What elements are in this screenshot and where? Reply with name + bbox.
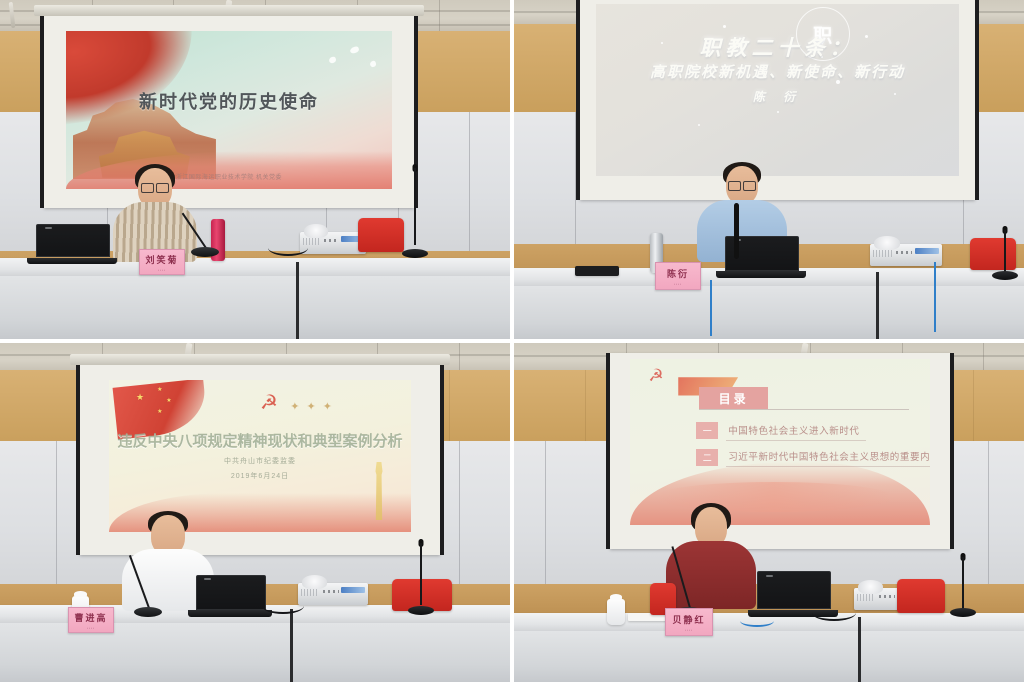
desk-divider [876,272,879,339]
power-cable [812,605,856,621]
toc-item-text: 中国特色社会主义进入新时代 [726,421,865,441]
placard-subtext: •••• [674,282,682,286]
dove-icon [369,60,377,68]
projection-screen: ★ ★ ★ ★ ☭ ✦ ✦ ✦ 违反中央八项规定精神现状和典型案例分析 中共舟山… [80,365,440,555]
power-cable [262,598,304,614]
photo-panel-bottom-left: ★ ★ ★ ★ ☭ ✦ ✦ ✦ 违反中央八项规定精神现状和典型案例分析 中共舟山… [0,343,510,682]
desk-divider [290,609,293,682]
photo-panel-top-left: 新时代党的历史使命 浙江国际海运职业技术学院 机关党委 [0,0,510,339]
slide-speaker-name: 陈 衍 [596,88,959,105]
dove-icon: ✦ ✦ ✦ [290,400,334,413]
photo-collage: 新时代党的历史使命 浙江国际海运职业技术学院 机关党委 [0,0,1024,682]
red-chair [897,579,945,613]
photo-panel-top-right: 职 职教二十条： 高职院校新机遇、新使命、新行动 陈 衍 [514,0,1024,339]
laptop-computer[interactable] [36,224,108,264]
projector [300,232,366,254]
dove-icon [329,56,338,64]
name-placard: 曹进高 •••• [68,607,114,633]
photo-panel-bottom-right: ☭ 目录 一 中国特色社会主义进入新时代 二 习近平新时代中国特色社会主义思想的… [514,343,1024,682]
party-emblem-icon: ☭ [648,366,670,384]
dark-pad [575,266,619,276]
presentation-slide-3: ★ ★ ★ ★ ☭ ✦ ✦ ✦ 违反中央八项规定精神现状和典型案例分析 中共舟山… [109,380,411,532]
lecture-desk-front [0,276,510,339]
placard-name: 刘笑菊 [145,253,178,266]
placard-subtext: •••• [87,626,95,630]
slide-subtitle: 中共舟山市纪委监委 [109,456,411,466]
lecture-desk-front [514,631,1024,682]
handheld-microphone [729,212,739,268]
gooseneck-microphone [190,215,220,257]
presentation-slide-1: 新时代党的历史使命 浙江国际海运职业技术学院 机关党委 [66,31,392,188]
slide-line-1: 职教二十条： [596,32,959,62]
desk-divider [296,262,299,339]
microphone-stand [400,168,430,258]
toc-item-number: 二 [696,449,718,466]
dove-icon [350,46,360,54]
toc-item: 一 中国特色社会主义进入新时代 [696,421,865,441]
white-cup [607,599,625,625]
slide-title: 新时代党的历史使命 [66,88,392,114]
presentation-slide-2: 职 职教二十条： 高职院校新机遇、新使命、新行动 陈 衍 [596,4,959,176]
laptop-computer[interactable] [196,575,264,617]
microphone-stand [990,230,1020,280]
blue-cable-2 [934,262,958,332]
party-emblem-icon: ☭ [254,392,284,414]
toc-item-number: 一 [696,422,718,439]
slide-subtitle: 浙江国际海运职业技术学院 机关党委 [66,172,392,181]
name-placard: 陈衍 •••• [655,262,701,290]
blue-cable [710,280,738,336]
name-placard: 贝静红 •••• [665,608,713,636]
slide-line-2: 高职院校新机遇、新使命、新行动 [596,61,959,82]
projector [870,244,942,266]
slide-heading: 目录 [699,387,768,409]
blue-cable [740,615,774,627]
desk-divider [858,617,861,682]
power-cable [268,240,308,256]
eyeglasses [141,183,169,191]
gooseneck-microphone [133,561,163,617]
placard-subtext: •••• [685,628,693,632]
projector [298,583,368,605]
slide-title: 违反中央八项规定精神现状和典型案例分析 [109,430,411,451]
name-placard: 刘笑菊 •••• [139,249,185,275]
projection-screen: 职 职教二十条： 高职院校新机遇、新使命、新行动 陈 衍 [580,0,975,200]
red-chair [358,218,404,252]
presentation-slide-4: ☭ 目录 一 中国特色社会主义进入新时代 二 习近平新时代中国特色社会主义思想的… [630,359,929,526]
placard-name: 曹进高 [74,611,107,624]
projection-screen: ☭ 目录 一 中国特色社会主义进入新时代 二 习近平新时代中国特色社会主义思想的… [610,353,950,549]
microphone-stand [948,557,978,617]
projection-screen: 新时代党的历史使命 浙江国际海运职业技术学院 机关党委 [44,16,414,208]
placard-name: 陈衍 [667,267,689,280]
eyeglasses [728,181,756,189]
slide-date: 2019年6月24日 [109,471,411,481]
placard-subtext: •••• [158,268,166,272]
placard-name: 贝静红 [672,613,705,626]
microphone-stand [406,543,436,615]
